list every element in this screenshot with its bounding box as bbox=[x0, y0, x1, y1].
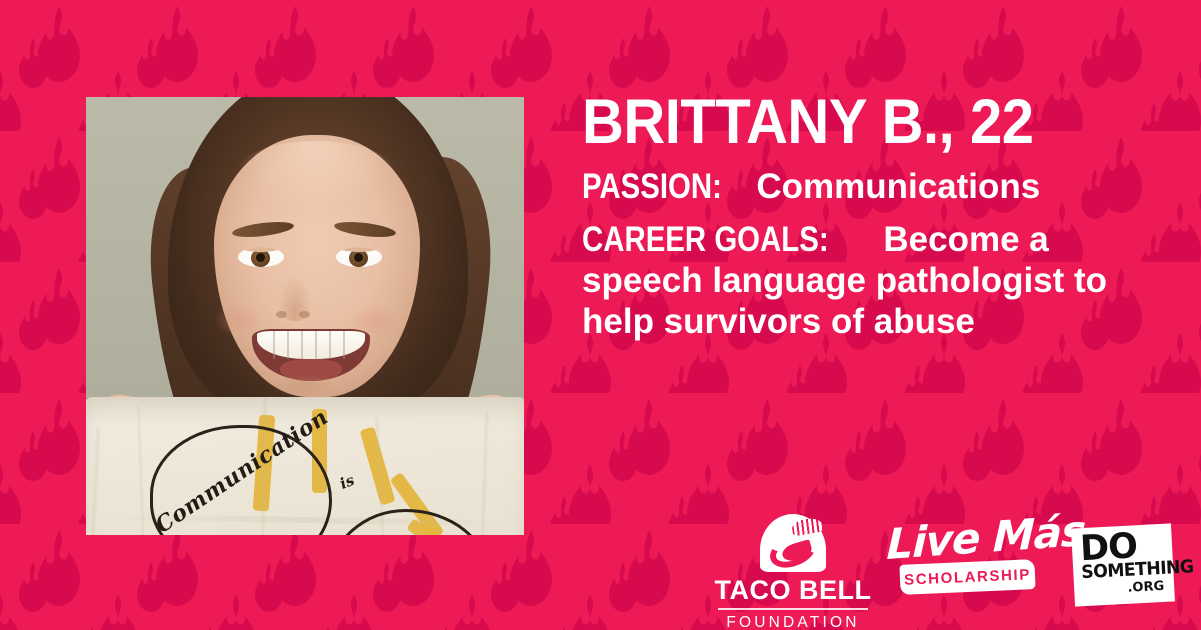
scholarship-brush-band: SCHOLARSHIP bbox=[899, 559, 1035, 595]
passion-fact: PASSION: Communications bbox=[582, 168, 1122, 205]
cloth-fold bbox=[476, 411, 490, 535]
passion-label: PASSION: bbox=[582, 168, 722, 205]
live-mas-wordmark: Live Más bbox=[886, 513, 1047, 566]
tooth-gap bbox=[301, 331, 303, 359]
eye-right bbox=[336, 247, 382, 267]
scholarship-word: SCHOLARSHIP bbox=[904, 566, 1031, 589]
tooth-gap bbox=[273, 331, 275, 359]
tooth-gap bbox=[343, 331, 345, 359]
participant-name-age: BRITTANY B., 22 bbox=[582, 92, 1079, 154]
taco-bell-divider bbox=[718, 608, 868, 610]
career-goals-fact: CAREER GOALS: Become a speech language p… bbox=[582, 219, 1122, 343]
do-something-line-something: SOMETHING bbox=[1081, 560, 1164, 582]
taco-bell-bell-icon bbox=[760, 514, 826, 572]
tooth-gap bbox=[329, 331, 331, 359]
teeth bbox=[257, 331, 365, 359]
live-mas-scholarship-logo[interactable]: Live Más SCHOLARSHIP bbox=[886, 524, 1046, 592]
eyelid-right bbox=[336, 247, 382, 252]
sponsor-logos: TACO BELL FOUNDATION Live Más SCHOLARSHI… bbox=[688, 512, 1188, 622]
tooth-gap bbox=[315, 331, 317, 359]
copy-block: BRITTANY B., 22 PASSION: Communications … bbox=[582, 92, 1122, 343]
eyelid-left bbox=[238, 247, 284, 252]
embroidered-text-is: is bbox=[337, 471, 357, 493]
taco-bell-foundation-word: FOUNDATION bbox=[708, 614, 878, 630]
taco-bell-wordmark: TACO BELL bbox=[708, 577, 878, 604]
eye-left bbox=[238, 247, 284, 267]
taco-bell-foundation-logo[interactable]: TACO BELL FOUNDATION bbox=[708, 514, 878, 630]
participant-photo: Communication is power! bbox=[86, 97, 524, 535]
chin-shadow bbox=[272, 375, 338, 397]
pupil-left bbox=[256, 253, 265, 262]
do-something-org-logo[interactable]: DO SOMETHING .ORG bbox=[1071, 523, 1175, 606]
nostril-right bbox=[299, 311, 310, 318]
career-goals-label: CAREER GOALS: bbox=[582, 219, 829, 260]
scholarship-promo-card: Communication is power! BRITTANY B., 22 … bbox=[0, 0, 1201, 630]
forehead-highlight bbox=[236, 141, 396, 207]
pupil-right bbox=[354, 253, 363, 262]
tooth-gap bbox=[287, 331, 289, 359]
embroidered-cloth: Communication is power! bbox=[86, 397, 524, 535]
nostril-left bbox=[276, 311, 287, 318]
passion-value: Communications bbox=[756, 167, 1040, 206]
